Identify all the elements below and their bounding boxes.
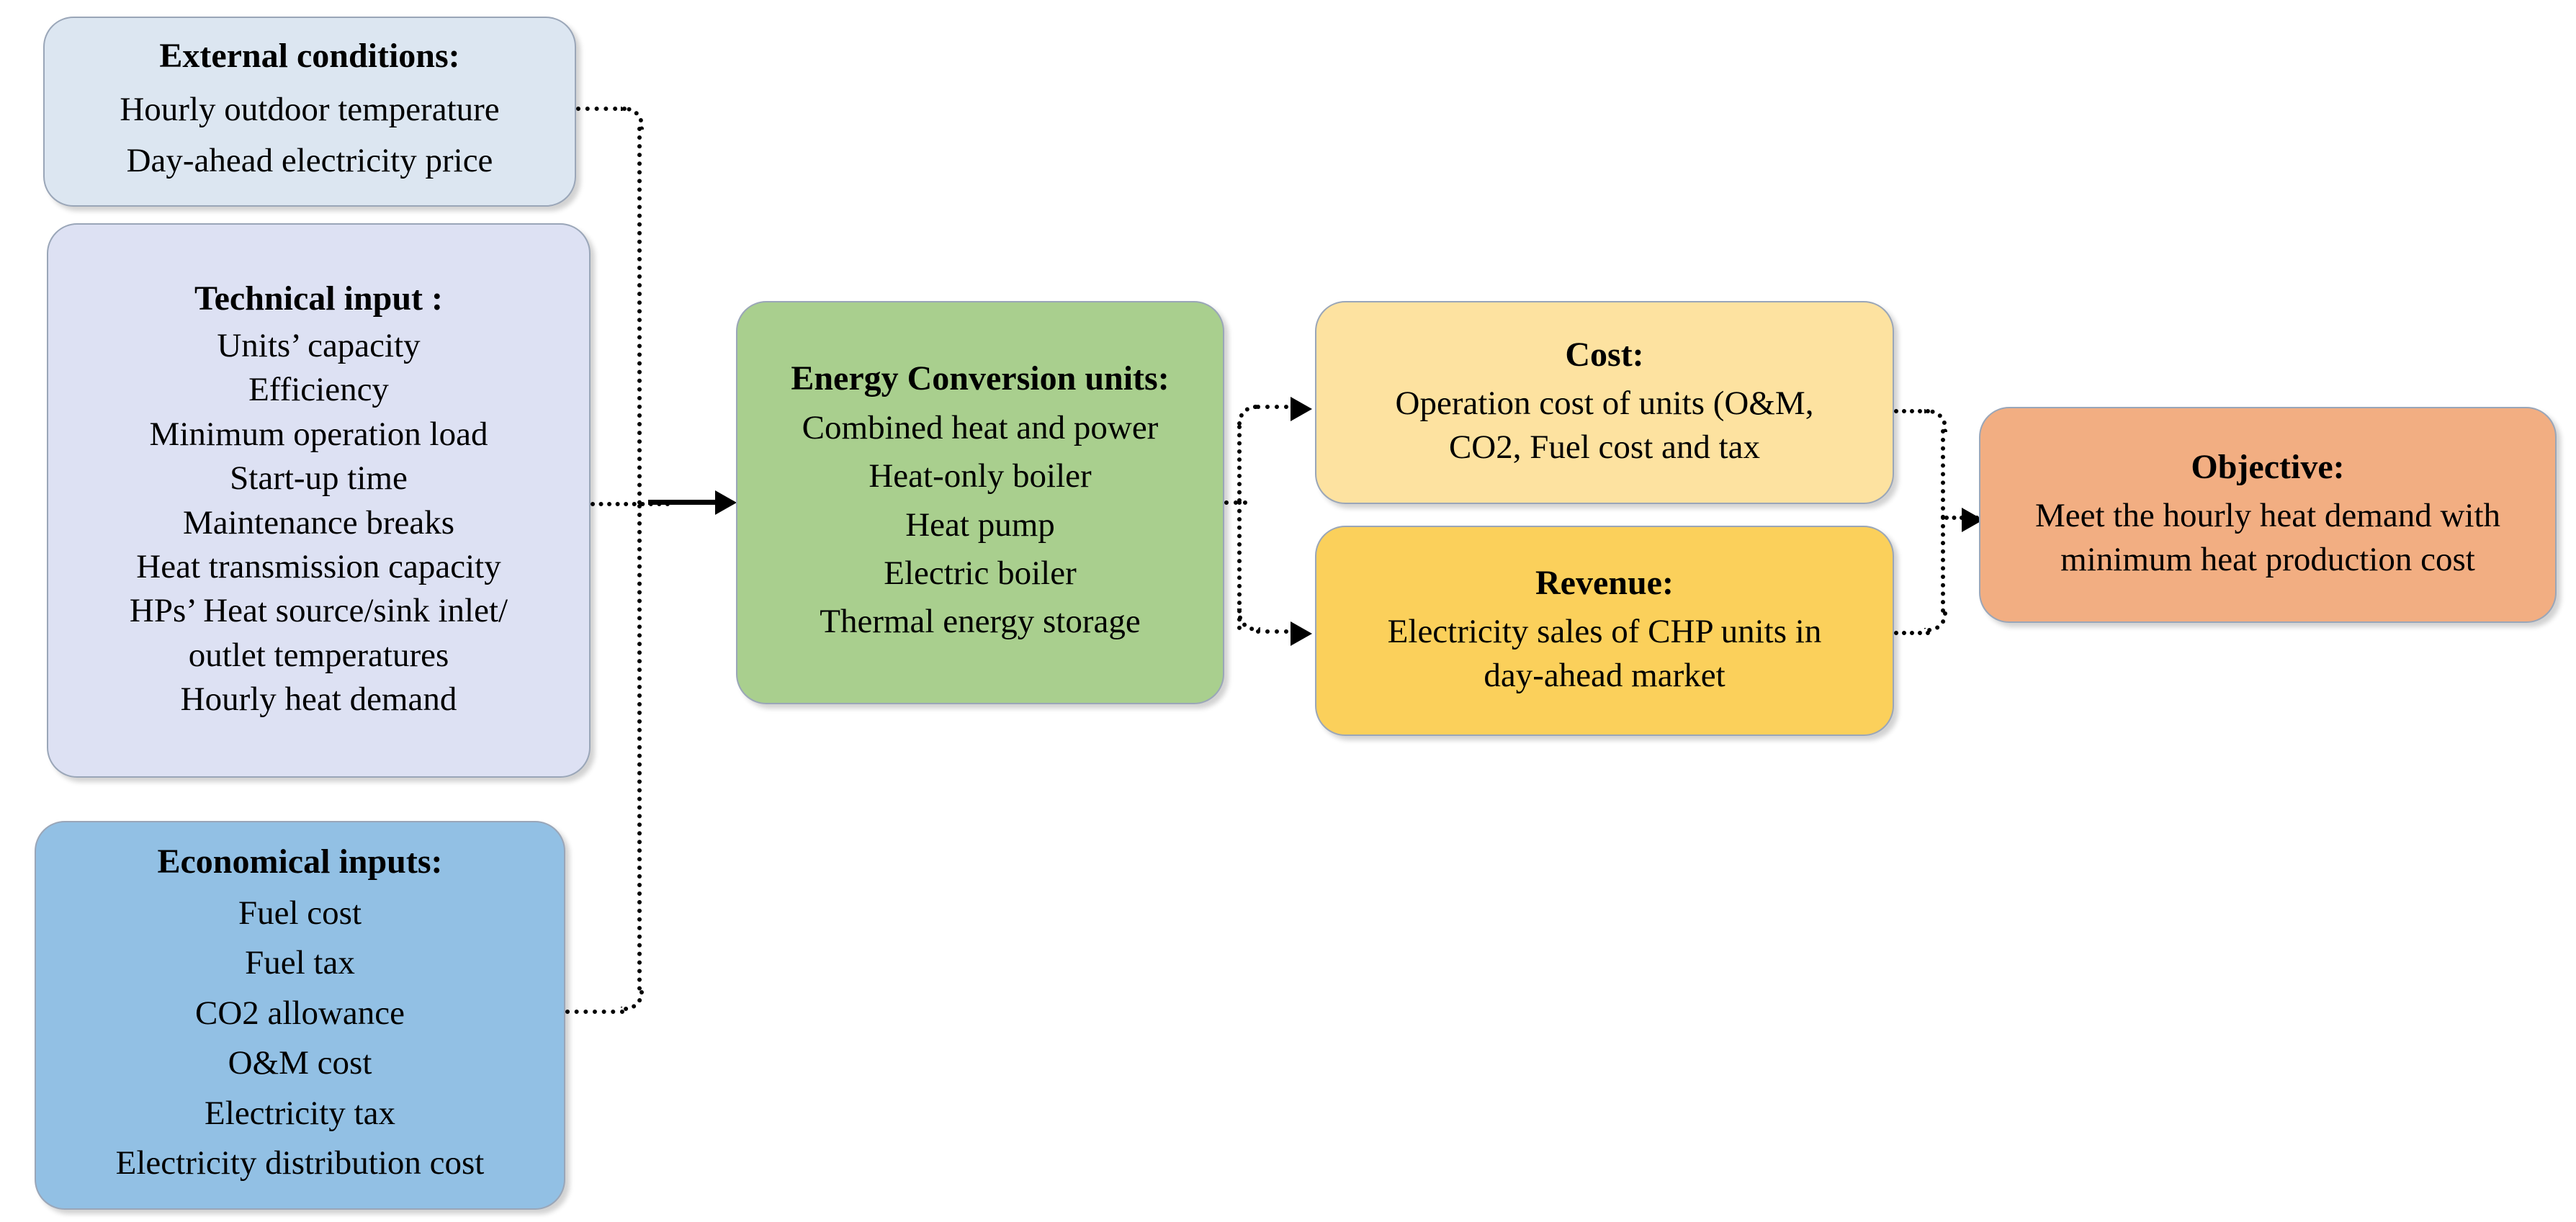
connector-conversion-stub (1224, 500, 1247, 505)
technical-input-line-6: Heat transmission capacity (136, 547, 501, 587)
connector-revenue-out-vertical (1941, 516, 1945, 613)
revenue-line-2: day-ahead market (1484, 656, 1725, 696)
external-conditions-title: External conditions: (159, 36, 459, 77)
box-revenue[interactable]: Revenue: Electricity sales of CHP units … (1315, 526, 1894, 736)
economical-inputs-line-6: Electricity distribution cost (116, 1144, 485, 1183)
energy-conversion-title: Energy Conversion units: (791, 359, 1169, 400)
economical-inputs-line-2: Fuel tax (245, 943, 355, 983)
box-objective[interactable]: Objective: Meet the hourly heat demand w… (1979, 407, 2557, 623)
technical-input-line-1: Units’ capacity (217, 326, 420, 366)
connector-economical-vertical (637, 504, 642, 991)
connector-bus-to-conversion-line (648, 500, 717, 505)
economical-inputs-line-3: CO2 allowance (195, 994, 405, 1033)
box-external-conditions[interactable]: External conditions: Hourly outdoor temp… (43, 17, 576, 207)
economical-inputs-line-1: Fuel cost (238, 894, 362, 933)
box-energy-conversion-units[interactable]: Energy Conversion units: Combined heat a… (736, 301, 1224, 704)
connector-cost-out-vertical (1941, 429, 1945, 519)
technical-input-line-2: Efficiency (248, 370, 389, 410)
revenue-line-1: Electricity sales of CHP units in (1388, 612, 1822, 652)
technical-input-title: Technical input : (194, 279, 443, 320)
economical-inputs-line-4: O&M cost (228, 1043, 372, 1083)
technical-input-line-3: Minimum operation load (150, 415, 488, 454)
objective-line-1: Meet the hourly heat demand with (2035, 496, 2500, 536)
energy-conversion-line-4: Electric boiler (884, 554, 1077, 593)
connector-external-horizontal (576, 107, 627, 111)
technical-input-line-7: HPs’ Heat source/sink inlet/ (130, 591, 508, 631)
connector-to-revenue-arrowhead (1291, 621, 1312, 646)
connector-external-vertical (637, 127, 642, 505)
cost-line-2: CO2, Fuel cost and tax (1449, 428, 1760, 467)
cost-line-1: Operation cost of units (O&M, (1396, 384, 1814, 423)
connector-conversion-split-up (1237, 425, 1242, 503)
energy-conversion-line-3: Heat pump (905, 506, 1055, 545)
technical-input-line-5: Maintenance breaks (183, 503, 454, 543)
connector-to-cost-arrowhead (1291, 397, 1312, 421)
economical-inputs-line-5: Electricity tax (205, 1094, 395, 1133)
energy-conversion-line-1: Combined heat and power (802, 408, 1159, 448)
flow-diagram: External conditions: Hourly outdoor temp… (0, 0, 2576, 1222)
objective-title: Objective: (2191, 447, 2344, 488)
connector-economical-corner (621, 988, 644, 1011)
connector-economical-horizontal (565, 1010, 624, 1014)
box-technical-input[interactable]: Technical input : Units’ capacity Effici… (47, 223, 591, 778)
box-economical-inputs[interactable]: Economical inputs: Fuel cost Fuel tax CO… (35, 821, 565, 1210)
technical-input-line-8: outlet temperatures (189, 636, 449, 675)
energy-conversion-line-2: Heat-only boiler (869, 457, 1091, 496)
technical-input-line-4: Start-up time (230, 459, 408, 498)
external-conditions-line-2: Day-ahead electricity price (127, 141, 493, 181)
energy-conversion-line-5: Thermal energy storage (820, 602, 1140, 642)
box-cost[interactable]: Cost: Operation cost of units (O&M, CO2,… (1315, 301, 1894, 504)
external-conditions-line-1: Hourly outdoor temperature (120, 90, 499, 130)
cost-title: Cost: (1565, 335, 1643, 376)
technical-input-line-9: Hourly heat demand (181, 680, 457, 719)
objective-line-2: minimum heat production cost (2060, 540, 2475, 580)
connector-bus-to-conversion-arrowhead (715, 490, 737, 515)
economical-inputs-title: Economical inputs: (157, 842, 442, 883)
revenue-title: Revenue: (1535, 563, 1674, 604)
